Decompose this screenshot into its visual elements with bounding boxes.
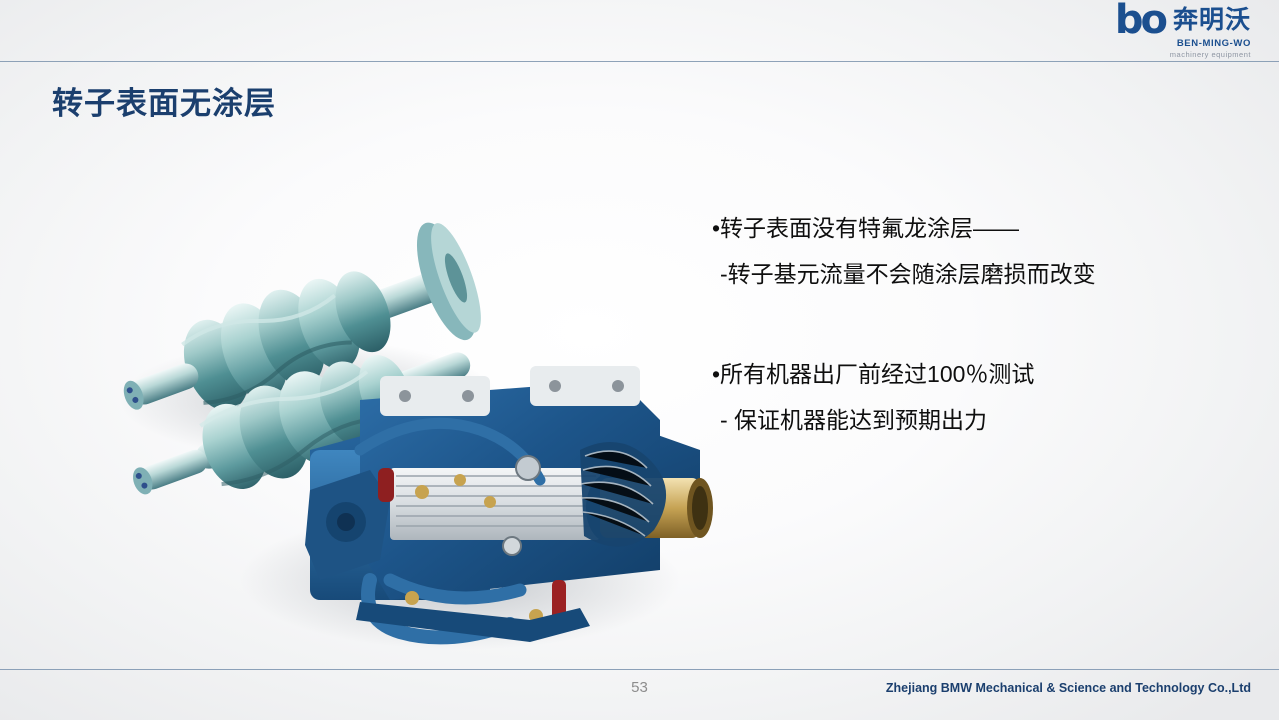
header-divider bbox=[0, 61, 1279, 62]
bullet-1: •转子表面没有特氟龙涂层—— bbox=[712, 205, 1252, 251]
logo-chinese-name: 奔明沃 bbox=[1173, 7, 1251, 33]
presentation-slide: bo 奔明沃 BEN-MING-WO machinery equipment 转… bbox=[0, 0, 1279, 720]
bullet-block: •转子表面没有特氟龙涂层—— -转子基元流量不会随涂层磨损而改变 •所有机器出厂… bbox=[712, 205, 1252, 443]
bullet-1-sub: -转子基元流量不会随涂层磨损而改变 bbox=[712, 251, 1252, 297]
page-title: 转子表面无涂层 bbox=[52, 78, 276, 123]
footer-company-text: Zhejiang BMW Mechanical & Science and Te… bbox=[886, 681, 1251, 695]
bullet-2-sub: - 保证机器能达到预期出力 bbox=[712, 397, 1252, 443]
logo-row: bo 奔明沃 bbox=[1115, 3, 1251, 37]
bullet-spacer bbox=[712, 297, 1252, 351]
logo-mark-icon: bo bbox=[1115, 3, 1165, 37]
logo-tagline: machinery equipment bbox=[1170, 50, 1251, 59]
logo-english-name: BEN-MING-WO bbox=[1177, 38, 1251, 49]
bullet-2: •所有机器出厂前经过100％测试 bbox=[712, 351, 1252, 397]
company-logo: bo 奔明沃 BEN-MING-WO machinery equipment bbox=[1101, 6, 1251, 56]
footer-divider bbox=[0, 669, 1279, 670]
slide-artwork bbox=[60, 150, 760, 650]
artwork-svg bbox=[60, 150, 760, 650]
